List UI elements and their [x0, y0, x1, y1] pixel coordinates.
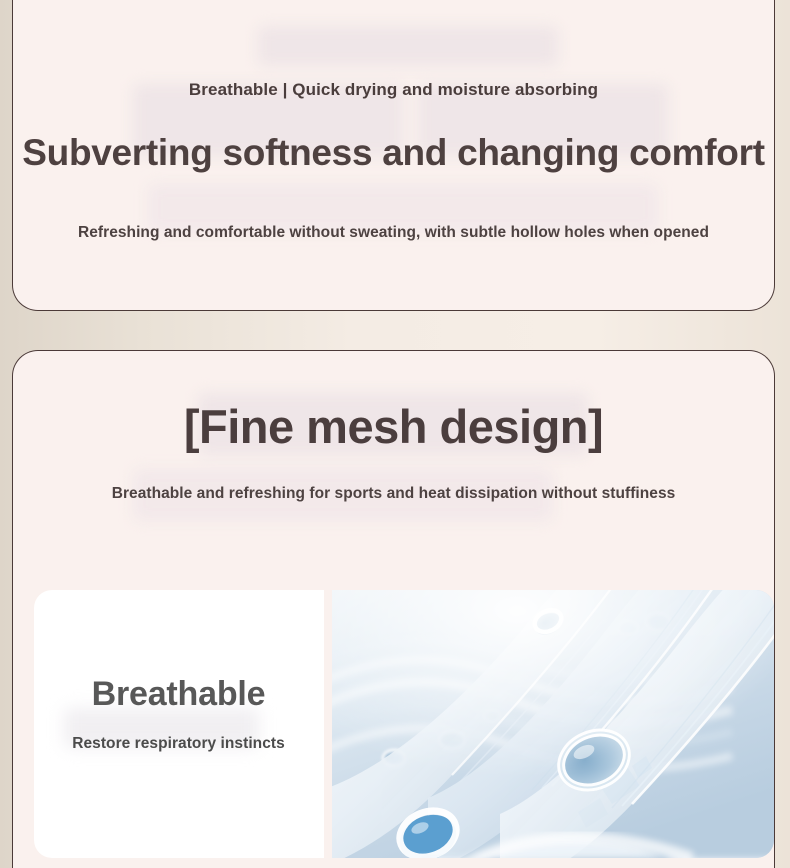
mesh-headline: [Fine mesh design]	[13, 399, 774, 454]
mesh-fabric-illustration	[332, 590, 774, 858]
intro-eyebrow: Breathable | Quick drying and moisture a…	[13, 80, 774, 100]
breathable-panel-subtitle: Restore respiratory instincts	[34, 735, 323, 753]
mesh-fabric-photo	[332, 590, 774, 858]
ghost-text-block	[258, 26, 558, 66]
mesh-subline: Breathable and refreshing for sports and…	[13, 485, 774, 503]
feature-strip: Breathable Restore respiratory instincts	[34, 590, 774, 858]
product-feature-page: Breathable | Quick drying and moisture a…	[0, 0, 790, 868]
intro-card: Breathable | Quick drying and moisture a…	[12, 0, 775, 311]
intro-headline: Subverting softness and changing comfort	[13, 132, 774, 174]
breathable-panel: Breathable Restore respiratory instincts	[34, 590, 323, 858]
intro-subline: Refreshing and comfortable without sweat…	[13, 224, 774, 242]
breathable-panel-title: Breathable	[34, 675, 323, 714]
mesh-card: [Fine mesh design] Breathable and refres…	[12, 350, 775, 868]
